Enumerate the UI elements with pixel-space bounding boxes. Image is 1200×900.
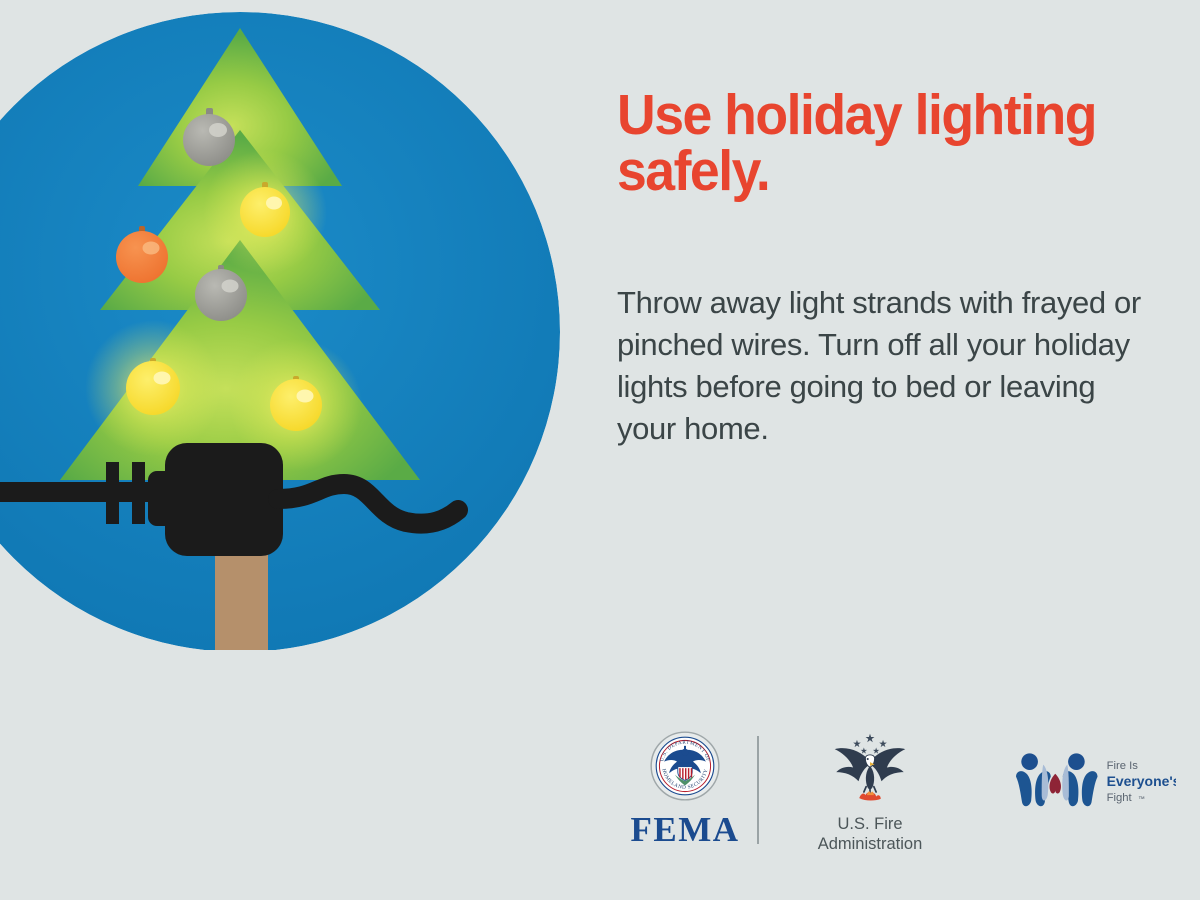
body-copy: Throw away light strands with frayed or … xyxy=(617,200,1142,451)
fief-line2: Everyone's xyxy=(1107,773,1176,789)
usfa-logo: U.S. Fire Administration xyxy=(790,730,950,854)
usfa-wordmark: U.S. Fire Administration xyxy=(790,814,950,854)
fire-is-everyones-fight-icon: Fire Is Everyone's Fight ™ xyxy=(1010,748,1176,810)
illustration-christmas-tree xyxy=(0,10,570,650)
dhs-seal-icon: U.S. DEPARTMENT OF HOMELAND SECURITY xyxy=(649,730,721,802)
power-plug-body xyxy=(148,443,283,556)
fief-line3: Fight xyxy=(1107,792,1133,804)
fief-trademark: ™ xyxy=(1138,796,1145,803)
page-title: Use holiday lighting safely. xyxy=(617,88,1125,200)
usfa-eagle-icon xyxy=(824,730,916,808)
text-column: Use holiday lighting safely. Throw away … xyxy=(617,88,1157,450)
fema-wordmark: FEMA xyxy=(615,812,755,847)
fema-logo: U.S. DEPARTMENT OF HOMELAND SECURITY FEM… xyxy=(615,730,755,847)
fief-line1: Fire Is xyxy=(1107,760,1139,772)
fief-logo: Fire Is Everyone's Fight ™ xyxy=(1010,748,1180,810)
poster-canvas: Use holiday lighting safely. Throw away … xyxy=(0,0,1200,900)
logo-divider xyxy=(757,736,759,844)
logo-bar: U.S. DEPARTMENT OF HOMELAND SECURITY FEM… xyxy=(600,726,1180,866)
